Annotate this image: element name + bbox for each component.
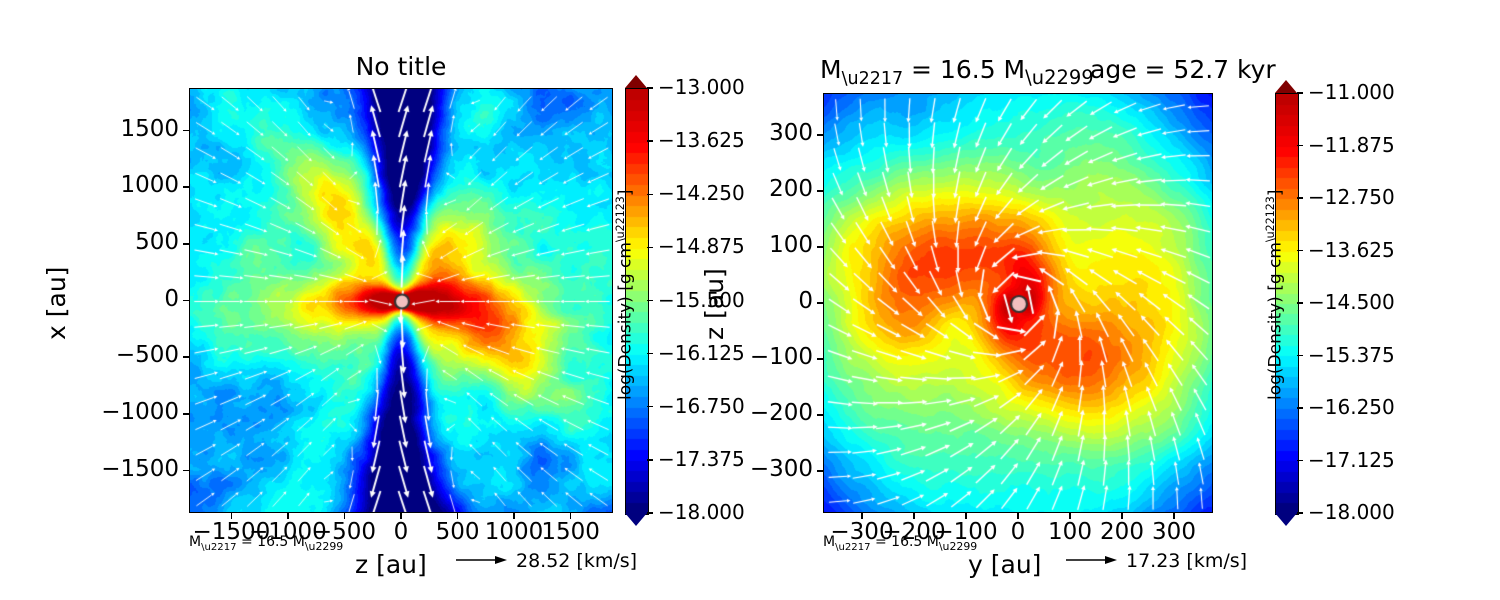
colorbar-tick-mark bbox=[647, 406, 653, 407]
axis-tick-label: 500 bbox=[59, 229, 179, 255]
age-header: age = 52.7 kyr bbox=[1090, 55, 1276, 84]
tick-mark bbox=[183, 243, 189, 245]
axis-tick-label: 300 bbox=[693, 120, 813, 146]
colorbar-tick-label: −13.000 bbox=[658, 75, 745, 99]
colorbar-tick-label: −18.000 bbox=[1308, 500, 1395, 524]
left-panel-x-axis-label: z [au] bbox=[355, 550, 427, 579]
colorbar-tick-label: −11.000 bbox=[1308, 80, 1395, 104]
left-panel-plot-area[interactable] bbox=[189, 88, 613, 513]
axis-tick-label: −300 bbox=[693, 456, 813, 482]
tick-mark bbox=[183, 300, 189, 302]
axis-tick-label: −200 bbox=[693, 400, 813, 426]
right-colorbar-bottom-cap bbox=[1275, 513, 1297, 526]
axis-tick-label: 100 bbox=[693, 232, 813, 258]
right-panel-mass-annotation: M\u2217 = 16.5 M\u2299 bbox=[823, 534, 977, 553]
left-panel-y-axis-label: x [au] bbox=[42, 267, 71, 340]
colorbar-tick-mark bbox=[1297, 302, 1303, 303]
tick-mark bbox=[817, 358, 823, 360]
colorbar-tick-mark bbox=[1297, 355, 1303, 356]
left-panel-quiver-arrow bbox=[455, 552, 507, 572]
right-panel-plot-area[interactable] bbox=[823, 93, 1213, 513]
right-panel-x-axis-label: y [au] bbox=[968, 550, 1041, 579]
colorbar-tick-mark bbox=[647, 353, 653, 354]
axis-tick-label: 300 bbox=[1114, 519, 1234, 545]
tick-mark bbox=[817, 302, 823, 304]
axis-tick-label: −1000 bbox=[59, 399, 179, 425]
colorbar-tick-mark bbox=[647, 459, 653, 460]
tick-mark bbox=[817, 246, 823, 248]
right-panel-y-axis-label: z [au] bbox=[700, 268, 729, 340]
axis-tick-label: −1500 bbox=[59, 456, 179, 482]
colorbar-tick-mark bbox=[1297, 460, 1303, 461]
colorbar-tick-mark bbox=[647, 512, 653, 513]
axis-tick-label: −100 bbox=[693, 344, 813, 370]
tick-mark bbox=[817, 470, 823, 472]
colorbar-tick-label: −12.750 bbox=[1308, 185, 1395, 209]
colorbar-tick-label: −17.125 bbox=[1308, 448, 1395, 472]
colorbar-tick-mark bbox=[647, 87, 653, 88]
colorbar-tick-label: −15.375 bbox=[1308, 343, 1395, 367]
colorbar-tick-mark bbox=[1297, 145, 1303, 146]
left-panel-title: No title bbox=[189, 52, 613, 81]
tick-mark bbox=[183, 186, 189, 188]
stellar-mass-header: M\u2217 = 16.5 M\u2299 bbox=[820, 55, 1094, 89]
axis-tick-label: 0 bbox=[59, 286, 179, 312]
tick-mark bbox=[183, 356, 189, 358]
colorbar-tick-mark bbox=[647, 194, 653, 195]
tick-mark bbox=[817, 134, 823, 136]
colorbar-tick-label: −14.500 bbox=[1308, 290, 1395, 314]
axis-tick-label: 1500 bbox=[59, 116, 179, 142]
left-panel-mass-annotation: M\u2217 = 16.5 M\u2299 bbox=[189, 534, 343, 553]
colorbar-tick-mark bbox=[1297, 197, 1303, 198]
axis-tick-label: 1000 bbox=[59, 172, 179, 198]
axis-tick-label: 200 bbox=[693, 176, 813, 202]
right-panel-quiver-key-label: 17.23 [km/s] bbox=[1126, 550, 1247, 572]
tick-mark bbox=[183, 470, 189, 472]
left-colorbar-label: log(Density) [g cm\u22123] bbox=[614, 190, 636, 400]
colorbar-tick-mark bbox=[1297, 407, 1303, 408]
axis-tick-label: 1500 bbox=[511, 519, 631, 545]
right-colorbar-label: log(Density) [g cm\u22123] bbox=[1264, 190, 1286, 400]
axis-tick-label: −500 bbox=[59, 342, 179, 368]
colorbar-tick-label: −16.250 bbox=[1308, 395, 1395, 419]
tick-mark bbox=[183, 413, 189, 415]
colorbar-tick-mark bbox=[1297, 92, 1303, 93]
right-panel-quiver-arrow bbox=[1065, 552, 1117, 572]
left-colorbar-top-cap bbox=[625, 75, 647, 88]
tick-mark bbox=[817, 190, 823, 192]
colorbar-tick-label: −18.000 bbox=[658, 500, 745, 524]
left-panel-quiver-key-label: 28.52 [km/s] bbox=[516, 550, 637, 572]
colorbar-tick-mark bbox=[647, 300, 653, 301]
colorbar-tick-mark bbox=[647, 247, 653, 248]
tick-mark bbox=[817, 414, 823, 416]
tick-mark bbox=[183, 130, 189, 132]
colorbar-tick-mark bbox=[647, 140, 653, 141]
colorbar-tick-mark bbox=[1297, 512, 1303, 513]
left-colorbar-bottom-cap bbox=[625, 513, 647, 526]
colorbar-tick-label: −13.625 bbox=[1308, 238, 1395, 262]
right-colorbar-top-cap bbox=[1275, 80, 1297, 93]
colorbar-tick-mark bbox=[1297, 250, 1303, 251]
colorbar-tick-label: −11.875 bbox=[1308, 133, 1395, 157]
